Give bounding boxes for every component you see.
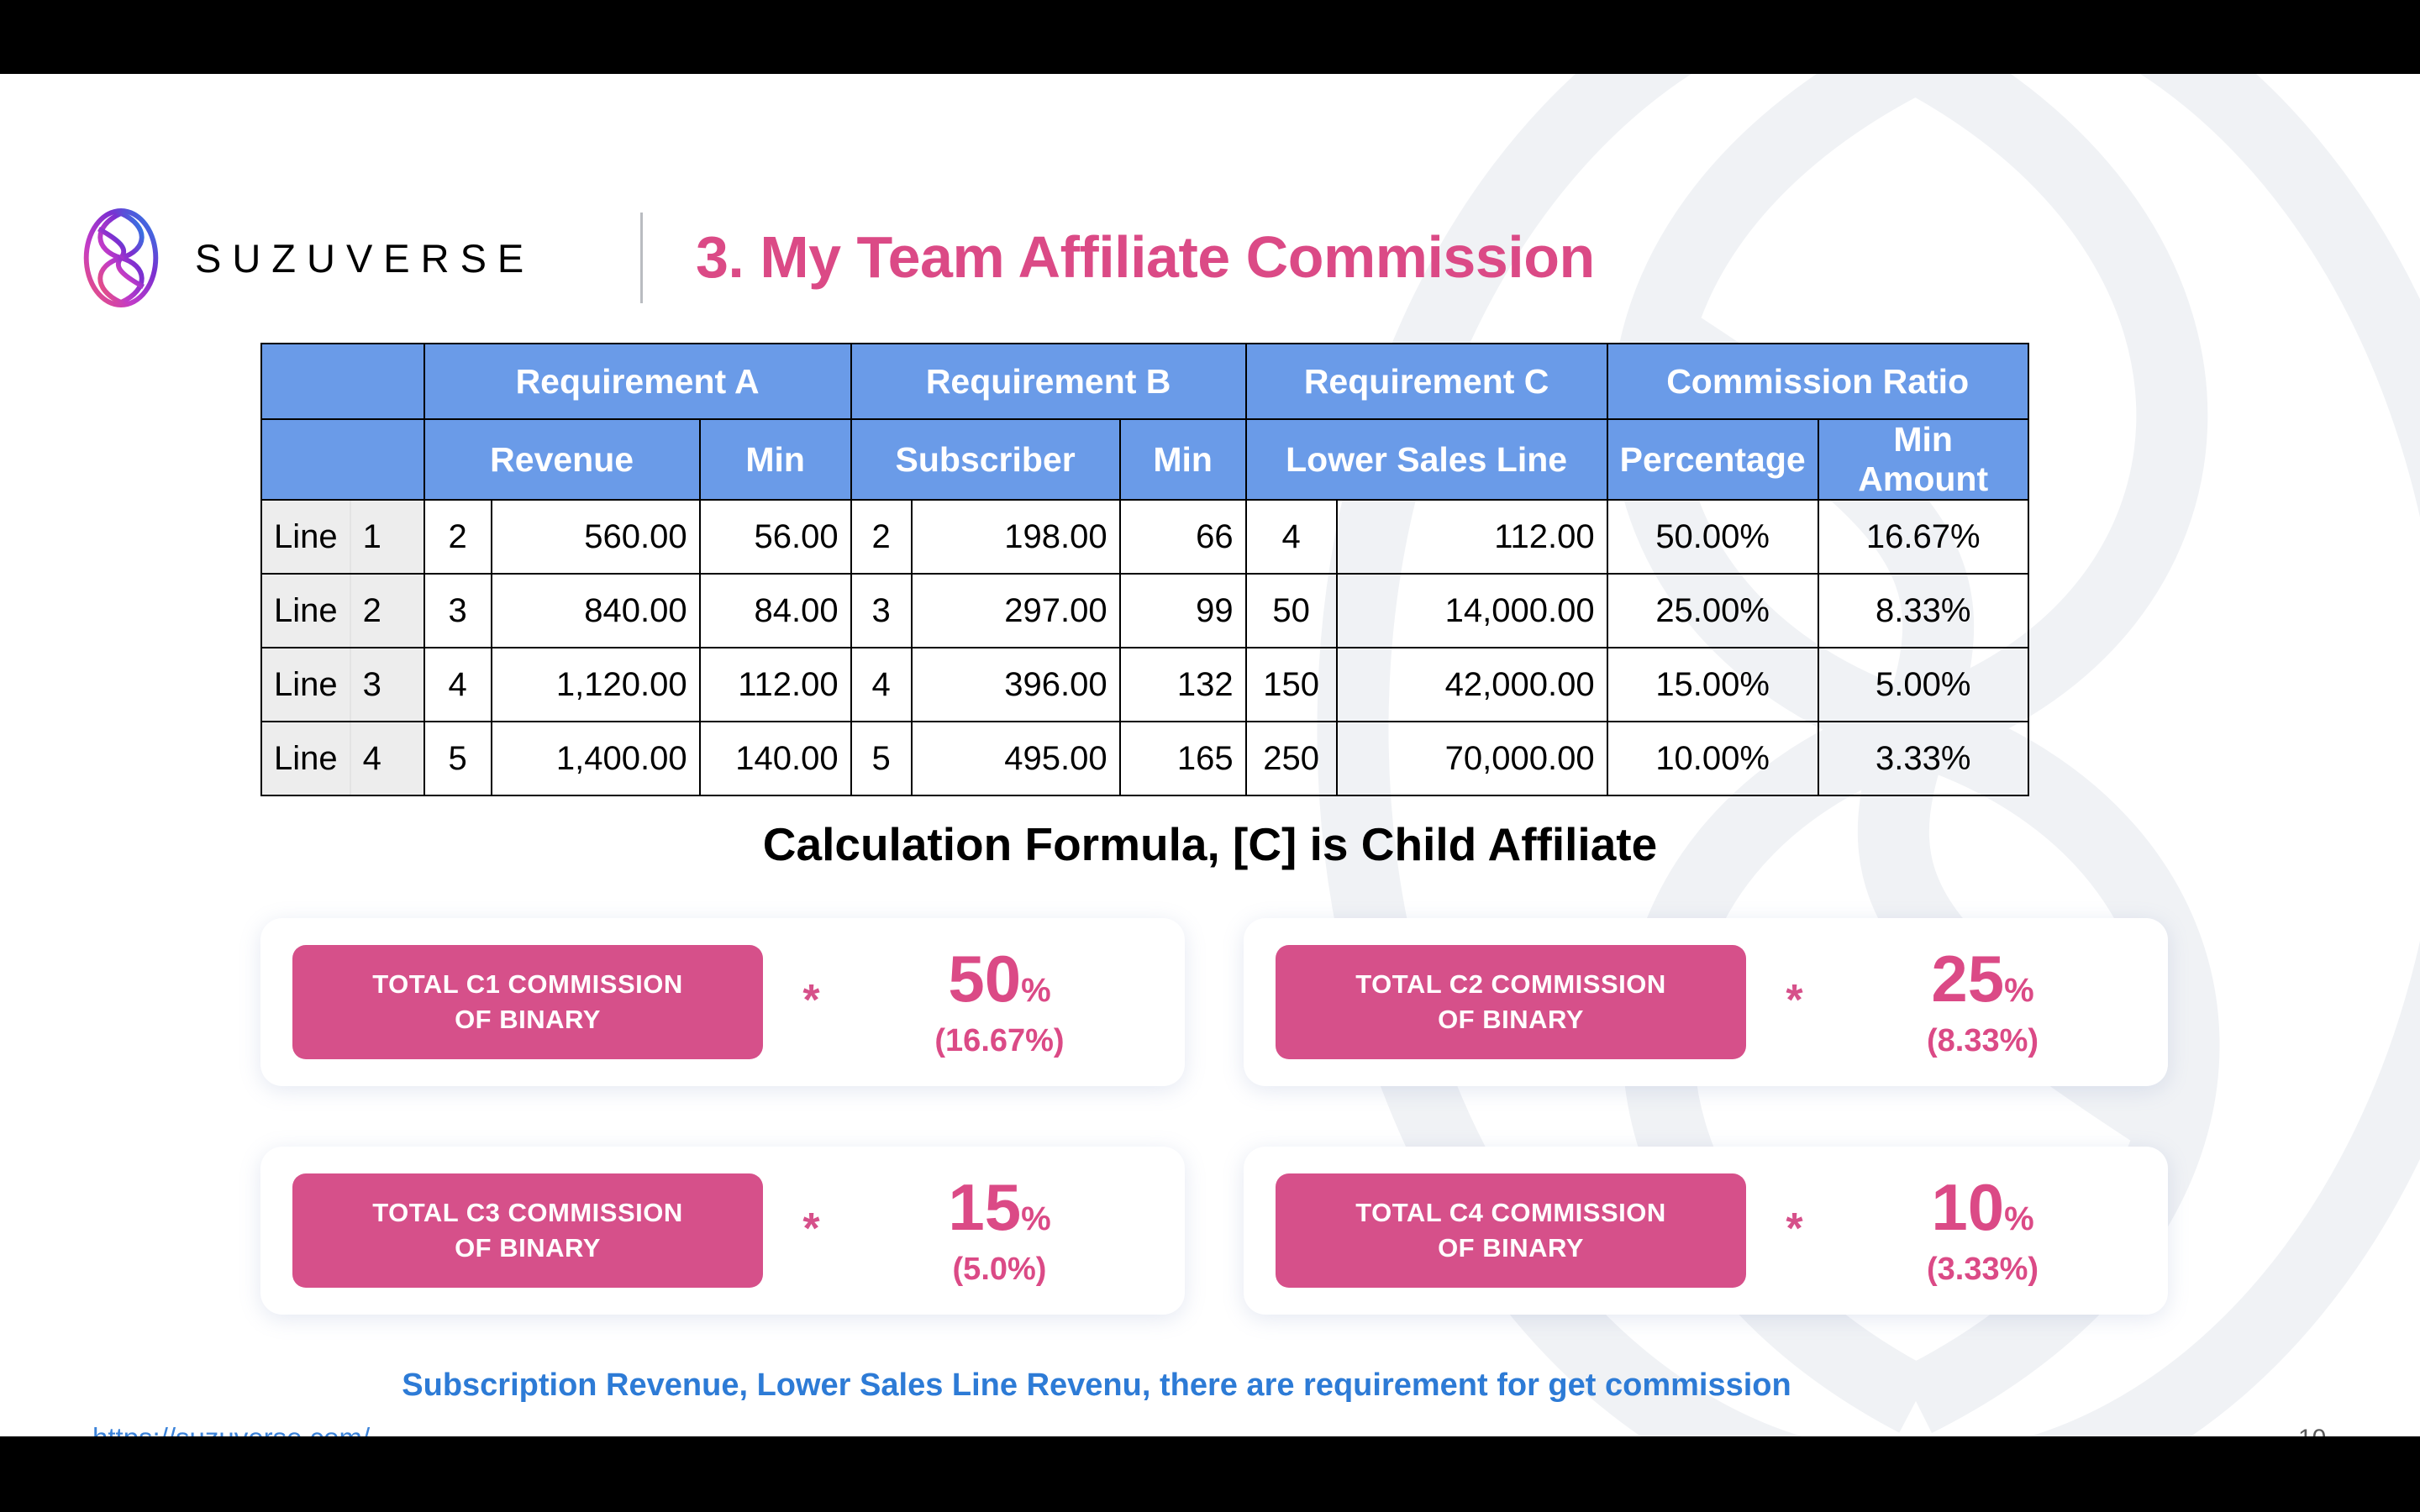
multiply-operator-icon: *: [763, 1207, 860, 1254]
cell-b-min: 99: [1120, 574, 1246, 648]
commission-pill-c4: TOTAL C4 COMMISSION OF BINARY: [1276, 1173, 1746, 1288]
pill-line-2: OF BINARY: [1438, 1002, 1584, 1037]
formula-card-c1: TOTAL C1 COMMISSION OF BINARY * 50% (16.…: [260, 918, 1185, 1086]
table-row: Line 4 5 1,400.00 140.00 5 495.00 165 25…: [261, 722, 2028, 795]
rate-block-c2: 25% (8.33%): [1843, 946, 2139, 1059]
cell-revenue: 1,400.00: [492, 722, 700, 795]
rate-subvalue-c3: (5.0%): [860, 1252, 1139, 1288]
cell-revenue: 1,120.00: [492, 648, 700, 722]
letterbox-top: [0, 0, 2420, 74]
cell-a-min: 140.00: [700, 722, 851, 795]
cell-min-amount: 8.33%: [1818, 574, 2028, 648]
rate-block-c3: 15% (5.0%): [860, 1174, 1156, 1288]
percent-unit: %: [2004, 1200, 2034, 1237]
cell-a-count: 5: [424, 722, 492, 795]
cell-subscriber: 396.00: [912, 648, 1120, 722]
pill-line-1: TOTAL C1 COMMISSION: [372, 967, 682, 1002]
letterbox-bottom: [0, 1436, 2420, 1512]
commission-pill-c3: TOTAL C3 COMMISSION OF BINARY: [292, 1173, 763, 1288]
cell-b-min: 165: [1120, 722, 1246, 795]
formula-card-c2: TOTAL C2 COMMISSION OF BINARY * 25% (8.3…: [1244, 918, 2168, 1086]
sub-header-a-min: Min: [700, 419, 851, 500]
pill-line-2: OF BINARY: [1438, 1231, 1584, 1266]
cell-a-count: 3: [424, 574, 492, 648]
pill-line-1: TOTAL C2 COMMISSION: [1355, 967, 1665, 1002]
cell-lower-sales-line: 42,000.00: [1337, 648, 1607, 722]
row-label: Line: [261, 648, 350, 722]
rate-value-c3: 15%: [860, 1174, 1139, 1240]
cell-b-min: 132: [1120, 648, 1246, 722]
group-header-requirement-b: Requirement B: [851, 344, 1246, 419]
rate-subvalue-c4: (3.33%): [1843, 1252, 2123, 1288]
footnote-text: Subscription Revenue, Lower Sales Line R…: [0, 1368, 2193, 1404]
brand-wordmark: SUZUVERSE: [195, 235, 534, 281]
cell-min-amount: 3.33%: [1818, 722, 2028, 795]
cell-percentage: 50.00%: [1607, 500, 1818, 574]
cell-percentage: 25.00%: [1607, 574, 1818, 648]
table-sub-header-row: Revenue Min Subscriber Min Lower Sales L…: [261, 419, 2028, 500]
multiply-operator-icon: *: [1746, 1207, 1843, 1254]
sub-header-revenue: Revenue: [424, 419, 700, 500]
cell-subscriber: 495.00: [912, 722, 1120, 795]
commission-pill-c1: TOTAL C1 COMMISSION OF BINARY: [292, 945, 763, 1059]
multiply-operator-icon: *: [1746, 979, 1843, 1026]
pill-line-2: OF BINARY: [455, 1231, 601, 1266]
cell-b-count: 2: [851, 500, 912, 574]
cell-subscriber: 198.00: [912, 500, 1120, 574]
rate-value-c1: 50%: [860, 946, 1139, 1011]
sub-header-blank: [261, 419, 424, 500]
pill-line-2: OF BINARY: [455, 1002, 601, 1037]
row-index: 4: [350, 722, 424, 795]
rate-subvalue-c1: (16.67%): [860, 1023, 1139, 1059]
rate-value-c2: 25%: [1843, 946, 2123, 1011]
cell-min-amount: 16.67%: [1818, 500, 2028, 574]
formula-card-c3: TOTAL C3 COMMISSION OF BINARY * 15% (5.0…: [260, 1147, 1185, 1315]
cell-lower-sales-line: 70,000.00: [1337, 722, 1607, 795]
cell-b-count: 5: [851, 722, 912, 795]
percent-unit: %: [1021, 972, 1051, 1009]
sub-header-subscriber: Subscriber: [851, 419, 1120, 500]
formula-card-grid: TOTAL C1 COMMISSION OF BINARY * 50% (16.…: [260, 918, 2168, 1315]
rate-block-c4: 10% (3.33%): [1843, 1174, 2139, 1288]
pill-line-1: TOTAL C4 COMMISSION: [1355, 1195, 1665, 1231]
table-row: Line 2 3 840.00 84.00 3 297.00 99 50 14,…: [261, 574, 2028, 648]
percent-unit: %: [2004, 972, 2034, 1009]
cell-a-min: 56.00: [700, 500, 851, 574]
cell-c-count: 250: [1246, 722, 1337, 795]
page-number: 10: [2298, 1425, 2326, 1436]
cell-c-count: 50: [1246, 574, 1337, 648]
header-divider: [640, 213, 643, 303]
sub-header-percentage: Percentage: [1607, 419, 1818, 500]
formula-card-c4: TOTAL C4 COMMISSION OF BINARY * 10% (3.3…: [1244, 1147, 2168, 1315]
suzuverse-logo-icon: [71, 208, 171, 307]
page-title: 3. My Team Affiliate Commission: [696, 223, 1595, 291]
cell-min-amount: 5.00%: [1818, 648, 2028, 722]
slide-canvas: SUZUVERSE 3. My Team Affiliate Commissio…: [0, 74, 2420, 1436]
row-index: 2: [350, 574, 424, 648]
cell-a-min: 84.00: [700, 574, 851, 648]
cell-subscriber: 297.00: [912, 574, 1120, 648]
commission-requirements-table: Requirement A Requirement B Requirement …: [260, 343, 2029, 796]
cell-lower-sales-line: 14,000.00: [1337, 574, 1607, 648]
table-group-header-row: Requirement A Requirement B Requirement …: [261, 344, 2028, 419]
rate-block-c1: 50% (16.67%): [860, 946, 1156, 1059]
group-header-requirement-c: Requirement C: [1246, 344, 1607, 419]
row-label: Line: [261, 500, 350, 574]
website-url-link[interactable]: https://suzuverse.com/: [92, 1422, 370, 1436]
cell-a-count: 4: [424, 648, 492, 722]
slide-header: SUZUVERSE 3. My Team Affiliate Commissio…: [0, 74, 2420, 234]
group-header-requirement-a: Requirement A: [424, 344, 851, 419]
row-index: 3: [350, 648, 424, 722]
pill-line-1: TOTAL C3 COMMISSION: [372, 1195, 682, 1231]
table-row: Line 3 4 1,120.00 112.00 4 396.00 132 15…: [261, 648, 2028, 722]
calculation-formula-heading: Calculation Formula, [C] is Child Affili…: [0, 817, 2420, 871]
group-header-commission-ratio: Commission Ratio: [1607, 344, 2028, 419]
sub-header-b-min: Min: [1120, 419, 1246, 500]
cell-lower-sales-line: 112.00: [1337, 500, 1607, 574]
row-label: Line: [261, 722, 350, 795]
multiply-operator-icon: *: [763, 979, 860, 1026]
sub-header-min-amount: Min Amount: [1818, 419, 2028, 500]
cell-a-count: 2: [424, 500, 492, 574]
rate-value-c4: 10%: [1843, 1174, 2123, 1240]
cell-percentage: 15.00%: [1607, 648, 1818, 722]
cell-c-count: 4: [1246, 500, 1337, 574]
cell-b-count: 3: [851, 574, 912, 648]
sub-header-lower-sales-line: Lower Sales Line: [1246, 419, 1607, 500]
commission-pill-c2: TOTAL C2 COMMISSION OF BINARY: [1276, 945, 1746, 1059]
cell-b-count: 4: [851, 648, 912, 722]
rate-subvalue-c2: (8.33%): [1843, 1023, 2123, 1059]
group-header-blank: [261, 344, 424, 419]
cell-a-min: 112.00: [700, 648, 851, 722]
table-row: Line 1 2 560.00 56.00 2 198.00 66 4 112.…: [261, 500, 2028, 574]
cell-revenue: 840.00: [492, 574, 700, 648]
cell-b-min: 66: [1120, 500, 1246, 574]
row-label: Line: [261, 574, 350, 648]
cell-revenue: 560.00: [492, 500, 700, 574]
cell-c-count: 150: [1246, 648, 1337, 722]
cell-percentage: 10.00%: [1607, 722, 1818, 795]
percent-unit: %: [1021, 1200, 1051, 1237]
row-index: 1: [350, 500, 424, 574]
